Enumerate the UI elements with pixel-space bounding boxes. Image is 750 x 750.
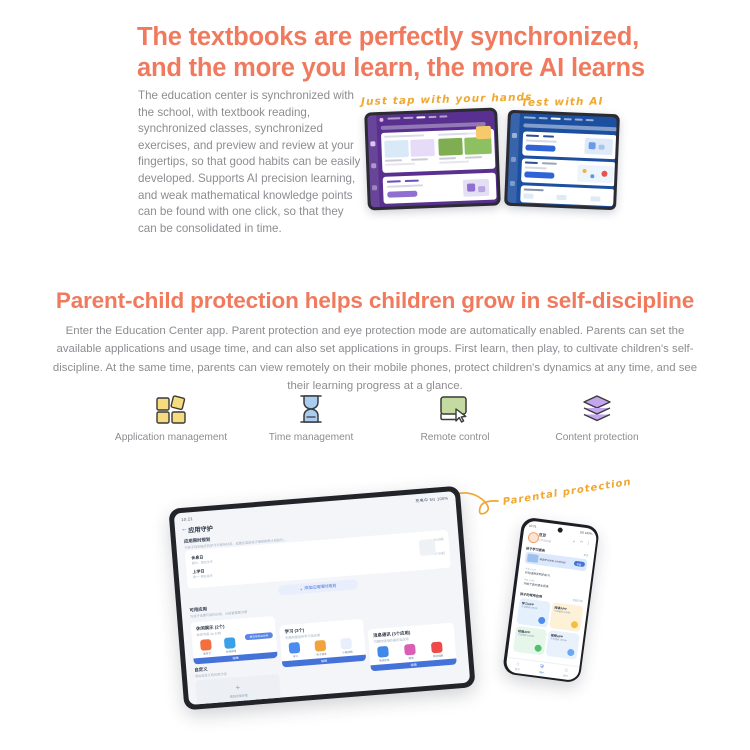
phone-bottom-nav: ⌂ 首页 ⛨ 守护 ☺ 我的 — [505, 656, 579, 680]
caption-parental-protection: Parental protection — [502, 477, 632, 508]
tile-icon — [570, 620, 578, 628]
report-panel[interactable] — [520, 185, 615, 206]
section2-heading: Parent-child protection helps children g… — [0, 288, 750, 314]
app-group-card[interactable]: 休闲娱乐 (2个) 每天可用 30 分钟 每天可用30分钟 爱奇艺 哔哩哔哩 编… — [191, 616, 278, 665]
status-indicators: 充电中 5G 100% — [415, 496, 448, 505]
profile-icon: ☺ — [563, 667, 569, 674]
sidebar-rail-blue[interactable] — [507, 113, 520, 203]
app-logo-icon — [379, 117, 383, 121]
nav-label: 守护 — [539, 671, 544, 675]
schedule-row-sub: 周一~周五每天 — [193, 573, 213, 579]
app-group-card[interactable]: 学习 (3个) 无限制使用的学习类应用 学习 电子课本 小猿搜题 编辑 — [279, 619, 366, 668]
start-test-button[interactable] — [525, 144, 555, 151]
knowledge-map-panel[interactable] — [521, 158, 616, 186]
tile-sub: 今日使用 30分钟 — [554, 610, 578, 616]
ai-test-panel[interactable] — [522, 131, 617, 159]
layers-icon — [512, 392, 682, 426]
plus-icon: + — [235, 684, 240, 692]
phone-user-sub: 小学四年级 — [538, 537, 551, 543]
phone-app-tile[interactable]: 学习APP 今日使用 45分钟 — [516, 597, 550, 627]
app-label: 电子课本 — [313, 652, 329, 657]
phone-grid-title: 孩子的常用应用 — [520, 590, 543, 598]
app-label: 哔哩哔哩 — [223, 649, 239, 654]
app-label: 系统相册 — [430, 653, 446, 658]
search-icon[interactable]: ⌕ — [573, 538, 576, 543]
feature-label: Content protection — [512, 432, 682, 443]
app-icon[interactable] — [224, 637, 236, 649]
avatar-icon[interactable] — [527, 531, 539, 543]
schedule-row-sub: 周六、周日全天 — [192, 559, 213, 565]
status-time: 10:21 — [181, 516, 193, 522]
nav-item-profile[interactable]: ☺ 我的 — [563, 667, 569, 678]
section1-body: The education center is synchronized wit… — [138, 88, 363, 237]
app-icon[interactable] — [200, 639, 212, 651]
app-icon[interactable] — [431, 642, 443, 654]
app-icon[interactable] — [340, 638, 352, 650]
view-detail-button[interactable] — [524, 171, 554, 178]
ai-banner-card[interactable] — [383, 173, 497, 204]
bell-icon[interactable]: ◠ — [580, 539, 584, 544]
group-tag: 每天可用30分钟 — [245, 632, 273, 640]
add-group-label: 添加应用分组 — [229, 693, 247, 698]
section-textbooks: The textbooks are perfectly synchronized… — [0, 0, 750, 255]
more-icon[interactable]: ⋮ — [586, 540, 591, 545]
add-schedule-label: 添加应用限时规划 — [304, 583, 336, 592]
guard-icon: ⛨ — [539, 664, 545, 671]
nav-item-home[interactable]: ⌂ 首页 — [515, 660, 521, 671]
phone-status-time: 10:21 — [529, 523, 537, 528]
tablet-purple-device — [364, 107, 501, 210]
back-arrow-icon[interactable]: ← — [181, 526, 188, 533]
feature-list: Application management Time management — [0, 392, 750, 442]
phone-device: 10:21 5G 100% 豆豆 小学四年级 ⌕ ◠ ⋮ 孩子学习报告 更多 本… — [502, 517, 600, 684]
phone-activity-text: 已完成数学同步练习 — [525, 570, 550, 577]
tile-sub: 今日使用 20分钟 — [517, 633, 541, 639]
feature-content-protection: Content protection — [512, 392, 682, 443]
section1-heading-line1: The textbooks are perfectly synchronized… — [137, 23, 639, 51]
phone-status-indicators: 5G 100% — [580, 530, 593, 536]
phone-activity-text: 开始了语文课本阅读 — [523, 581, 548, 588]
report-thumbnail-icon — [526, 553, 538, 562]
tablet-blue-screen — [507, 113, 617, 207]
app-label: 微信 — [403, 655, 419, 660]
schedule-row-value: 07:00起 — [434, 551, 445, 556]
phone-screen: 10:21 5G 100% 豆豆 小学四年级 ⌕ ◠ ⋮ 孩子学习报告 更多 本… — [505, 519, 597, 680]
app-label: 电话短信 — [376, 658, 392, 663]
app-label: 小猿搜题 — [339, 650, 355, 655]
phone-app-tile[interactable]: 视频APP 今日使用 15分钟 — [545, 629, 579, 659]
phone-report-button[interactable]: 查看 — [573, 561, 585, 567]
tablet-blue-device — [504, 110, 620, 211]
app-icon[interactable] — [314, 640, 326, 652]
app-icon[interactable] — [404, 644, 416, 656]
promo-badge — [476, 126, 491, 140]
app-icon[interactable] — [288, 642, 300, 654]
illustration-placeholder — [419, 539, 436, 556]
home-icon: ⌂ — [515, 660, 521, 667]
tablet-purple-screen — [367, 111, 497, 208]
banner-cta-button[interactable] — [387, 191, 417, 198]
nav-item-guard[interactable]: ⛨ 守护 — [539, 664, 545, 675]
tile-icon — [566, 648, 574, 656]
nav-label: 首页 — [515, 667, 520, 671]
phone-report-text: 本周学习时长 4小时20分 — [540, 557, 566, 564]
tile-icon — [534, 644, 542, 652]
phone-app-tile[interactable]: 绘画APP 今日使用 20分钟 — [513, 625, 547, 655]
tile-sub: 今日使用 45分钟 — [521, 606, 545, 612]
caption-just-tap: Just tap with your hands — [361, 91, 533, 108]
app-group-card[interactable]: 消息通讯 (3个应用) 可随时使用的通讯类应用 电话短信 微信 系统相册 编辑 — [368, 623, 457, 672]
phone-banner-more[interactable]: 更多 — [583, 553, 589, 558]
nav-label: 我的 — [563, 674, 568, 678]
tablet-guard-screen: 10:21 充电中 5G 100% ← 应用守护 应用限时规划 为孩子规划每天的… — [174, 491, 470, 705]
marketing-page: The textbooks are perfectly synchronized… — [0, 0, 750, 750]
tile-sub: 今日使用 15分钟 — [550, 638, 574, 644]
phone-app-tile[interactable]: 阅读APP 今日使用 30分钟 — [549, 602, 583, 632]
section1-heading-line2: and the more you learn, the more AI lear… — [137, 53, 647, 84]
add-group-card[interactable]: + 添加应用分组 — [195, 674, 281, 705]
section1-heading: The textbooks are perfectly synchronized… — [137, 22, 647, 84]
plus-icon: + — [300, 586, 303, 591]
section-sub-apps: 为孩子设置可用的应用，分组管理更方便 — [190, 598, 390, 619]
tablet-guard-device: 10:21 充电中 5G 100% ← 应用守护 应用限时规划 为孩子规划每天的… — [168, 486, 475, 711]
tablet-purple-topbar — [376, 111, 494, 124]
page-title: 应用守护 — [188, 524, 213, 535]
phone-grid-more[interactable]: 全部应用 — [572, 598, 583, 603]
caption-test-with-ai: Test with AI — [521, 96, 604, 109]
camera-notch — [557, 527, 563, 533]
tile-icon — [537, 616, 545, 624]
group-sub: 每天可用 30 分钟 — [196, 630, 221, 637]
app-label: 学习 — [287, 654, 303, 659]
section2-body: Enter the Education Center app. Parent p… — [44, 322, 706, 395]
add-schedule-button[interactable]: + 添加应用限时规划 — [278, 579, 359, 595]
sidebar-rail[interactable] — [367, 115, 380, 207]
app-icon[interactable] — [377, 646, 389, 658]
app-label: 爱奇艺 — [199, 651, 215, 656]
